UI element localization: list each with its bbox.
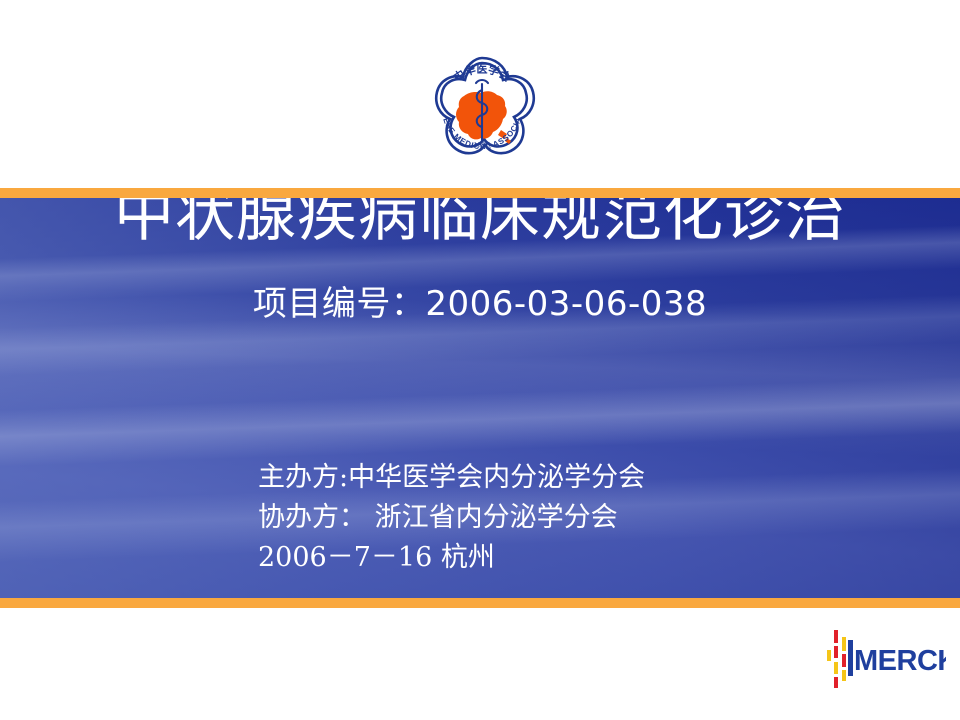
chinese-medical-association-logo: 1915 中华医学会 CHINESE MEDICAL ASSOCIATION [423,52,541,172]
bottom-white-band [0,608,960,720]
svg-text:中华医学会: 中华医学会 [451,62,515,85]
merck-logo: MERCK [824,628,946,690]
top-white-band: 1915 中华医学会 CHINESE MEDICAL ASSOCIATION [0,0,960,188]
divider-rule-bottom [0,598,960,608]
credits-block: 主办方:中华医学会内分泌学分会 协办方： 浙江省内分泌学分会 2006－7－16… [258,458,645,578]
divider-rule-top [0,188,960,198]
credit-date-location: 2006－7－16 杭州 [258,538,645,578]
credit-organizer: 主办方:中华医学会内分泌学分会 [258,458,645,498]
credit-co-organizer: 协办方： 浙江省内分泌学分会 [258,498,645,538]
merck-wordmark: MERCK [854,645,946,677]
project-number: 项目编号：2006-03-06-038 [0,286,960,323]
presentation-slide: 中状腺疾病临床规范化诊治 [0,0,960,720]
